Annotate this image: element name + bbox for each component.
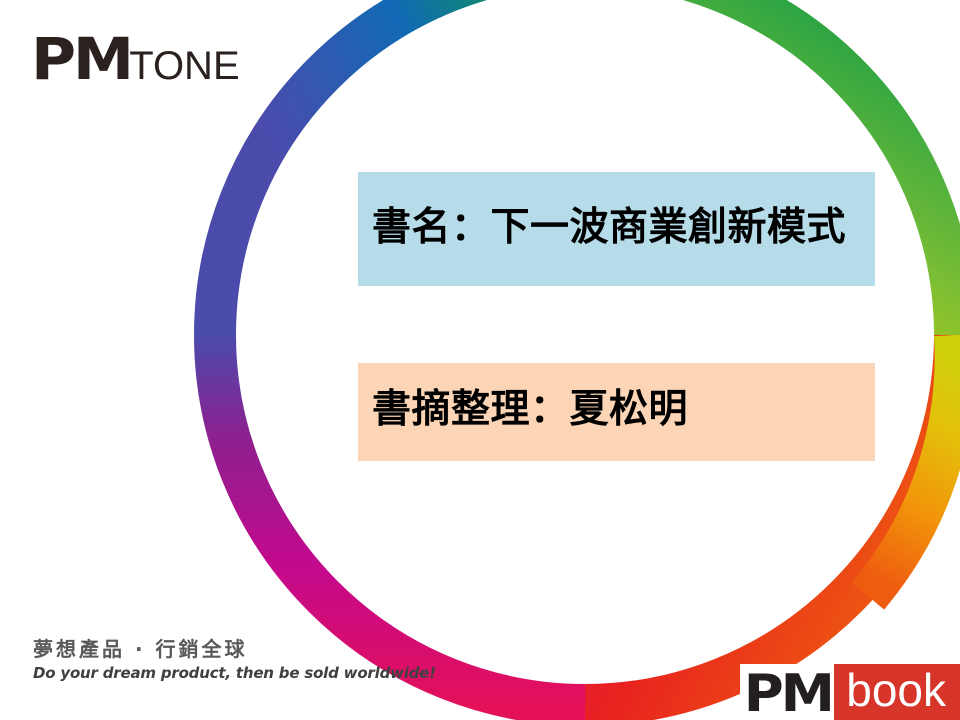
pmbook-logo-pm-text: PM bbox=[744, 668, 832, 720]
pmtone-logo: PMTONE bbox=[31, 30, 240, 88]
pmbook-logo: PM book bbox=[740, 664, 960, 720]
rainbow-ring-decoration bbox=[0, 0, 960, 720]
tagline-english: Do your dream product, then be sold worl… bbox=[33, 663, 436, 685]
book-title-box: 書名：下一波商業創新模式 bbox=[358, 172, 875, 286]
book-summary-author-box: 書摘整理：夏松明 bbox=[358, 363, 875, 461]
book-title-text: 書名：下一波商業創新模式 bbox=[372, 205, 846, 251]
pmbook-logo-book-block: book bbox=[834, 664, 960, 720]
slide-canvas: PMTONE 書名：下一波商業創新模式 書摘整理：夏松明 夢想產品 · 行銷全球… bbox=[0, 0, 960, 720]
company-tagline: 夢想產品 · 行銷全球 Do your dream product, then … bbox=[33, 636, 436, 685]
pmtone-logo-pm-text: PM bbox=[31, 30, 131, 88]
book-summary-author-text: 書摘整理：夏松明 bbox=[372, 388, 688, 433]
pmtone-logo-tone-text: TONE bbox=[129, 46, 239, 86]
pmbook-logo-book-text: book bbox=[846, 667, 946, 713]
tagline-chinese: 夢想產品 · 行銷全球 bbox=[33, 636, 436, 662]
pmbook-logo-pm-block: PM bbox=[740, 664, 834, 720]
